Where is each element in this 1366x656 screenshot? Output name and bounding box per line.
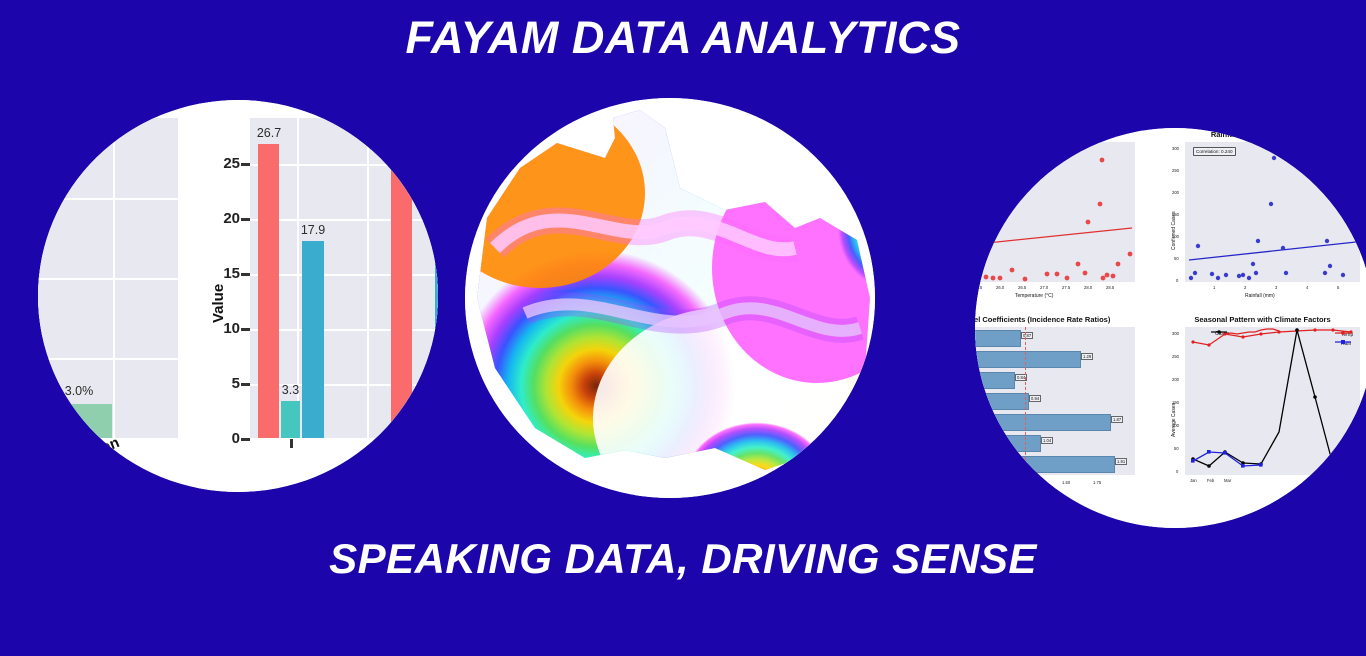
- chart-seasonal-pattern: Seasonal Pattern with Climate Factors Av…: [1155, 315, 1366, 500]
- y-tick-label: 50: [1174, 256, 1179, 261]
- x-tick-label: Feb: [1207, 478, 1214, 483]
- y-tick-label: 150: [1172, 212, 1179, 217]
- left-chart-surface: 3.0% Season Value 0 5 10 15 20: [38, 100, 438, 492]
- x-tick-label: 28.0: [1084, 285, 1092, 290]
- y-tick-mark: [241, 438, 250, 441]
- line-chart-svg: [1185, 327, 1360, 475]
- x-axis-label: Temperature (°C): [1015, 293, 1053, 299]
- y-tick-label: 100: [1172, 423, 1179, 428]
- middle-circle-contour-map: [465, 98, 875, 498]
- bar: [281, 401, 300, 438]
- y-tick-label: 50: [1174, 446, 1179, 451]
- y-axis-title: Value: [210, 284, 227, 323]
- bar-value-label: 26.7: [242, 126, 296, 140]
- y-tick-label: 0: [1176, 278, 1178, 283]
- right-circle-dashboard: Analysis: Climate Effects on Cholera Tem…: [975, 128, 1366, 528]
- hbar-value-label: 1.29: [1081, 353, 1093, 360]
- left-main-bar-panel: Value 0 5 10 15 20 25 26.7 3.3 17.9 17.2: [228, 118, 438, 473]
- y-tick-label: 0: [200, 430, 240, 447]
- y-tick-label: 0: [1176, 469, 1178, 474]
- hbar-value-label: 0.94: [1029, 395, 1041, 402]
- y-tick-label: 10: [200, 320, 240, 337]
- hbar-value-label: 1.87: [1111, 416, 1123, 423]
- bar: [46, 404, 112, 438]
- y-axis-label: Average Cases: [1171, 403, 1177, 437]
- x-tick-label: Jan: [1190, 478, 1197, 483]
- hbar: [975, 372, 1015, 389]
- scatter-svg: [1185, 142, 1360, 282]
- x-axis-category: Season: [66, 434, 122, 470]
- hbar: [975, 414, 1111, 431]
- left-partial-bar-panel: 3.0% Season: [38, 118, 178, 473]
- chart-rainfall-vs-cases: Rainfall vs. Confirmed Cases Confirmed C…: [1155, 130, 1366, 305]
- x-tick-label: 26.0: [996, 285, 1004, 290]
- x-tick-label: 2: [1244, 285, 1246, 290]
- bar-value-label: 17.2: [419, 231, 438, 245]
- hbar-value-label: 0.87: [1021, 332, 1033, 339]
- x-tick-label: 5: [1337, 285, 1339, 290]
- hbar: [975, 435, 1041, 452]
- chart-title: Temperature vs. Confirmed Cases: [975, 130, 1142, 139]
- x-tick-label: 27.5: [1062, 285, 1070, 290]
- y-tick-label: 250: [1172, 354, 1179, 359]
- hbar: [975, 393, 1029, 410]
- bar: [435, 249, 438, 438]
- y-tick-label: 5: [200, 375, 240, 392]
- reference-line: [1025, 327, 1026, 475]
- gridline: [367, 118, 369, 438]
- tagline: SPEAKING DATA, DRIVING SENSE: [0, 535, 1366, 583]
- y-tick-label: 250: [1172, 168, 1179, 173]
- hbar: [975, 456, 1115, 473]
- y-tick-label: 25: [200, 155, 240, 172]
- gridline: [38, 358, 178, 360]
- scatter-svg: [975, 142, 1135, 282]
- x-tick-label: 26.5: [1018, 285, 1026, 290]
- bar: [391, 144, 412, 438]
- y-tick-mark: [241, 383, 250, 386]
- chart-model-coefficients: Model Coefficients (Incidence Rate Ratio…: [975, 315, 1142, 500]
- hbar: [975, 351, 1081, 368]
- y-axis-label: Confirmed Cases: [1171, 211, 1177, 250]
- x-tick-mark: [77, 439, 80, 448]
- hbar-value-label: 1.04: [1041, 437, 1053, 444]
- x-tick-label: 4: [1306, 285, 1308, 290]
- dashboard-surface: Analysis: Climate Effects on Cholera Tem…: [975, 128, 1366, 528]
- x-tick-label: 27.0: [1040, 285, 1048, 290]
- left-circle-bar-chart: 3.0% Season Value 0 5 10 15 20: [38, 100, 438, 492]
- y-tick-mark: [241, 273, 250, 276]
- y-tick-label: 15: [200, 265, 240, 282]
- y-tick-label: 150: [1172, 400, 1179, 405]
- bar-value-label: 3.0%: [38, 384, 122, 398]
- x-tick-label: 28.5: [1106, 285, 1114, 290]
- x-tick-label: Mar: [1224, 478, 1231, 483]
- y-tick-label: 200: [1172, 377, 1179, 382]
- gridline: [38, 278, 178, 280]
- x-tick-label: 1.25: [1031, 480, 1039, 485]
- gridline: [38, 198, 178, 200]
- y-tick-label: 300: [1172, 146, 1179, 151]
- page-title: FAYAM DATA ANALYTICS: [0, 12, 1366, 64]
- bar-value-label: 17.9: [286, 223, 340, 237]
- contour-map-svg: [465, 98, 875, 498]
- x-tick-label: 1.50: [1062, 480, 1070, 485]
- y-tick-mark: [241, 328, 250, 331]
- hbar: [975, 330, 1021, 347]
- x-tick-label: 25.5: [975, 285, 982, 290]
- y-tick-label: 100: [1172, 234, 1179, 239]
- y-tick-mark: [241, 163, 250, 166]
- chart-title: Model Coefficients (Incidence Rate Ratio…: [975, 315, 1142, 324]
- x-tick-label: 3: [1275, 285, 1277, 290]
- y-tick-mark: [241, 218, 250, 221]
- x-axis-label: Rainfall (mm): [1245, 293, 1275, 299]
- chart-temperature-vs-cases: Temperature vs. Confirmed Cases Confirme…: [975, 130, 1142, 305]
- x-tick-mark: [290, 439, 293, 448]
- y-tick-label: 300: [1172, 331, 1179, 336]
- x-tick-label: 1.75: [1093, 480, 1101, 485]
- y-tick-label: 200: [1172, 190, 1179, 195]
- y-tick-label: 20: [200, 210, 240, 227]
- chart-title: Seasonal Pattern with Climate Factors: [1155, 315, 1366, 324]
- bar: [302, 241, 324, 438]
- chart-title: Rainfall vs. Confirmed Cases: [1155, 130, 1366, 139]
- x-tick-label: 1: [1213, 285, 1215, 290]
- hbar-value-label: 1.91: [1115, 458, 1127, 465]
